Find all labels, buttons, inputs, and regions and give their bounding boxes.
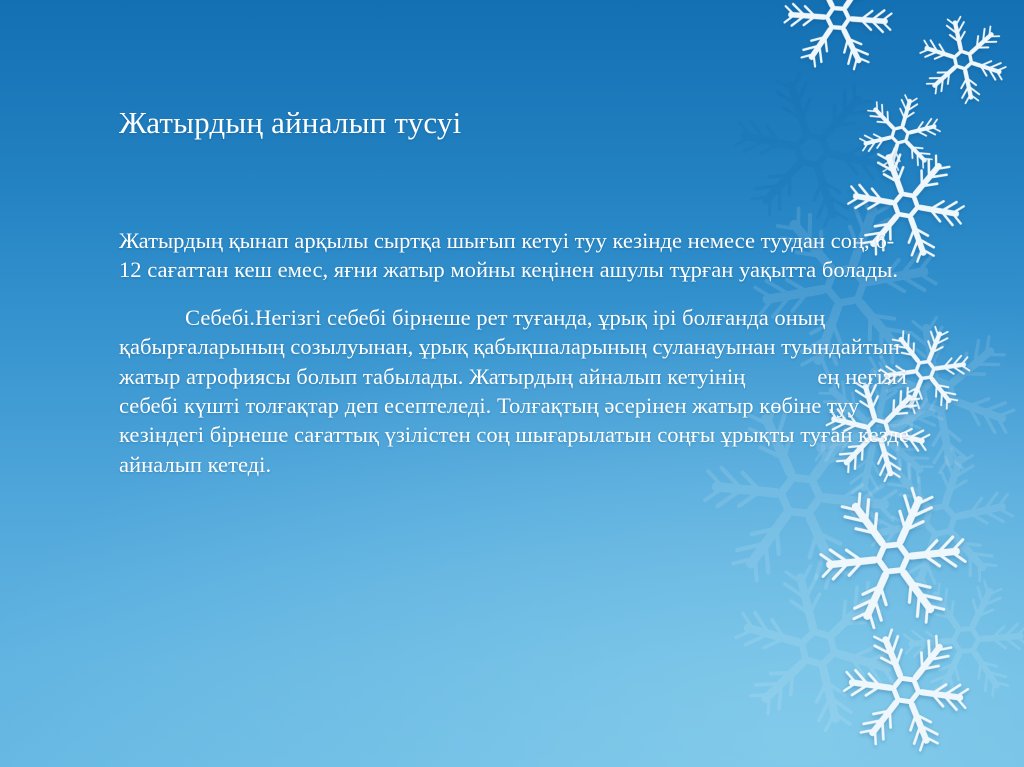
slide-canvas: Жатырдың айналып тусуі Жатырдың қынап ар…: [0, 0, 1024, 767]
snowflake-icon: [719, 549, 917, 747]
snowflake-icon: [816, 481, 970, 635]
slide-body: Жатырдың қынап арқылы сыртқа шығып кетуі…: [119, 226, 909, 479]
paragraph-2-lead: Себебі.Негізгі себебі бірнеше рет туғанд…: [119, 305, 906, 389]
snowflake-icon: [910, 7, 1016, 113]
snowflake-icon: [782, 0, 893, 74]
paragraph-2: Себебі.Негізгі себебі бірнеше рет туғанд…: [119, 303, 909, 479]
snowflake-icon: [723, 61, 901, 239]
paragraph-1: Жатырдың қынап арқылы сыртқа шығып кетуі…: [119, 226, 909, 285]
snowflake-icon: [853, 88, 948, 183]
slide-title: Жатырдың айналып тусуі: [119, 104, 819, 141]
snowflake-icon: [902, 576, 1024, 704]
snowflake-icon: [838, 622, 974, 758]
